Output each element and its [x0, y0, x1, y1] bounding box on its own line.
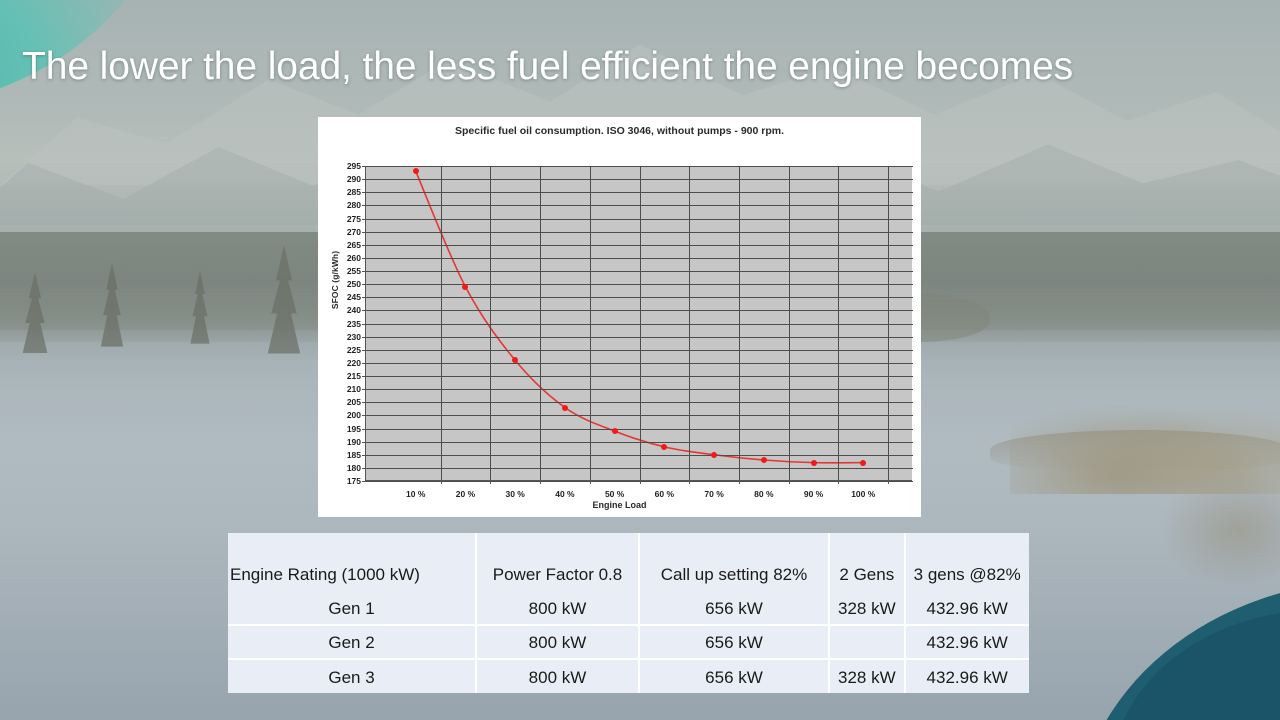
chart-y-tick-mark [362, 455, 366, 456]
chart-y-tick-mark [362, 350, 366, 351]
table-row: Gen 1 800 kW 656 kW 328 kW 432.96 kW [228, 591, 1029, 625]
table-header-cell: Power Factor 0.8 [476, 533, 639, 591]
chart-x-tick-mark [441, 480, 442, 484]
chart-y-tick-label: 200 [321, 410, 361, 420]
chart-y-tick-mark [362, 429, 366, 430]
table-cell: 328 kW [829, 591, 905, 625]
chart-data-point [661, 444, 667, 450]
chart-y-tick-label: 190 [321, 437, 361, 447]
chart-y-tick-label: 225 [321, 345, 361, 355]
chart-y-tick-mark [362, 179, 366, 180]
chart-plot-area: 2952902852802752702652602552502452402352… [365, 166, 912, 481]
chart-y-tick-mark [362, 205, 366, 206]
table-cell: 656 kW [639, 591, 829, 625]
chart-x-tick-mark [838, 480, 839, 484]
table-header-row: Engine Rating (1000 kW) Power Factor 0.8… [228, 533, 1029, 591]
table-cell: 800 kW [476, 591, 639, 625]
table-cell: Gen 3 [228, 659, 476, 693]
chart-data-point [860, 460, 866, 466]
chart-y-tick-mark [362, 310, 366, 311]
chart-y-tick-mark [362, 415, 366, 416]
chart-gridline-vertical [441, 166, 442, 481]
chart-y-tick-mark [362, 442, 366, 443]
chart-y-tick-mark [362, 376, 366, 377]
chart-y-tick-label: 185 [321, 450, 361, 460]
chart-y-tick-mark [362, 324, 366, 325]
chart-x-tick-mark [590, 480, 591, 484]
presentation-slide: The lower the load, the less fuel effici… [0, 0, 1280, 720]
chart-data-point [761, 457, 767, 463]
table-header-cell: Call up setting 82% [639, 533, 829, 591]
table-cell [829, 625, 905, 659]
chart-data-point [413, 168, 419, 174]
table-cell: 432.96 kW [905, 659, 1029, 693]
table-cell: Gen 2 [228, 625, 476, 659]
chart-title: Specific fuel oil consumption. ISO 3046,… [318, 125, 921, 137]
chart-y-tick-label: 260 [321, 253, 361, 263]
chart-y-tick-label: 275 [321, 214, 361, 224]
chart-data-point [612, 428, 618, 434]
chart-x-tick-mark [739, 480, 740, 484]
chart-gridline-vertical [590, 166, 591, 481]
chart-y-tick-mark [362, 363, 366, 364]
chart-y-tick-label: 195 [321, 424, 361, 434]
chart-y-tick-label: 175 [321, 476, 361, 486]
chart-y-tick-mark [362, 219, 366, 220]
chart-y-tick-label: 290 [321, 174, 361, 184]
table-header-cell: Engine Rating (1000 kW) [228, 533, 476, 591]
chart-gridline-vertical [838, 166, 839, 481]
chart-y-tick-label: 180 [321, 463, 361, 473]
chart-x-tick-mark [540, 480, 541, 484]
chart-y-tick-label: 220 [321, 358, 361, 368]
sfoc-chart-panel: Specific fuel oil consumption. ISO 3046,… [318, 117, 921, 517]
table-cell: 656 kW [639, 625, 829, 659]
chart-x-tick-mark [490, 480, 491, 484]
chart-y-tick-label: 270 [321, 227, 361, 237]
chart-y-tick-label: 255 [321, 266, 361, 276]
chart-y-tick-mark [362, 297, 366, 298]
chart-y-tick-label: 210 [321, 384, 361, 394]
generator-loading-table: Engine Rating (1000 kW) Power Factor 0.8… [228, 533, 1029, 693]
table-row: Gen 3 800 kW 656 kW 328 kW 432.96 kW [228, 659, 1029, 693]
table-cell: 432.96 kW [905, 625, 1029, 659]
chart-x-tick-label: 100 % [833, 489, 893, 499]
chart-y-tick-label: 205 [321, 397, 361, 407]
chart-gridline-vertical [540, 166, 541, 481]
chart-y-tick-mark [362, 258, 366, 259]
table-cell: 328 kW [829, 659, 905, 693]
table-cell: 432.96 kW [905, 591, 1029, 625]
page-title: The lower the load, the less fuel effici… [22, 46, 1252, 89]
chart-y-tick-label: 250 [321, 279, 361, 289]
chart-y-tick-label: 230 [321, 332, 361, 342]
chart-data-point [711, 452, 717, 458]
chart-y-tick-label: 295 [321, 161, 361, 171]
table-header-cell: 3 gens @82% [905, 533, 1029, 591]
table-cell: 800 kW [476, 625, 639, 659]
chart-y-tick-mark [362, 166, 366, 167]
chart-gridline-vertical [689, 166, 690, 481]
chart-gridline-vertical [789, 166, 790, 481]
table-header-cell: 2 Gens [829, 533, 905, 591]
chart-data-point [512, 357, 518, 363]
chart-data-point [811, 460, 817, 466]
table-cell: 656 kW [639, 659, 829, 693]
chart-x-tick-mark [789, 480, 790, 484]
chart-y-tick-label: 265 [321, 240, 361, 250]
chart-x-tick-mark [640, 480, 641, 484]
chart-gridline-vertical [888, 166, 889, 481]
chart-y-tick-mark [362, 337, 366, 338]
chart-gridline-vertical [490, 166, 491, 481]
chart-y-tick-mark [362, 192, 366, 193]
chart-y-tick-mark [362, 232, 366, 233]
chart-y-tick-mark [362, 245, 366, 246]
table-cell: Gen 1 [228, 591, 476, 625]
chart-y-tick-mark [362, 271, 366, 272]
chart-data-point [462, 284, 468, 290]
chart-y-tick-label: 280 [321, 200, 361, 210]
chart-y-tick-mark [362, 481, 366, 482]
chart-y-tick-mark [362, 389, 366, 390]
chart-x-tick-mark [689, 480, 690, 484]
chart-y-tick-label: 240 [321, 305, 361, 315]
chart-y-tick-label: 215 [321, 371, 361, 381]
chart-y-tick-label: 245 [321, 292, 361, 302]
chart-gridline-vertical [640, 166, 641, 481]
chart-y-tick-label: 285 [321, 187, 361, 197]
table-row: Gen 2 800 kW 656 kW 432.96 kW [228, 625, 1029, 659]
chart-data-point [562, 405, 568, 411]
chart-y-tick-label: 235 [321, 319, 361, 329]
table-cell: 800 kW [476, 659, 639, 693]
chart-y-tick-mark [362, 402, 366, 403]
chart-gridline-vertical [739, 166, 740, 481]
chart-x-axis-label: Engine Load [318, 500, 921, 510]
chart-y-tick-mark [362, 468, 366, 469]
chart-x-tick-mark [888, 480, 889, 484]
chart-y-tick-mark [362, 284, 366, 285]
